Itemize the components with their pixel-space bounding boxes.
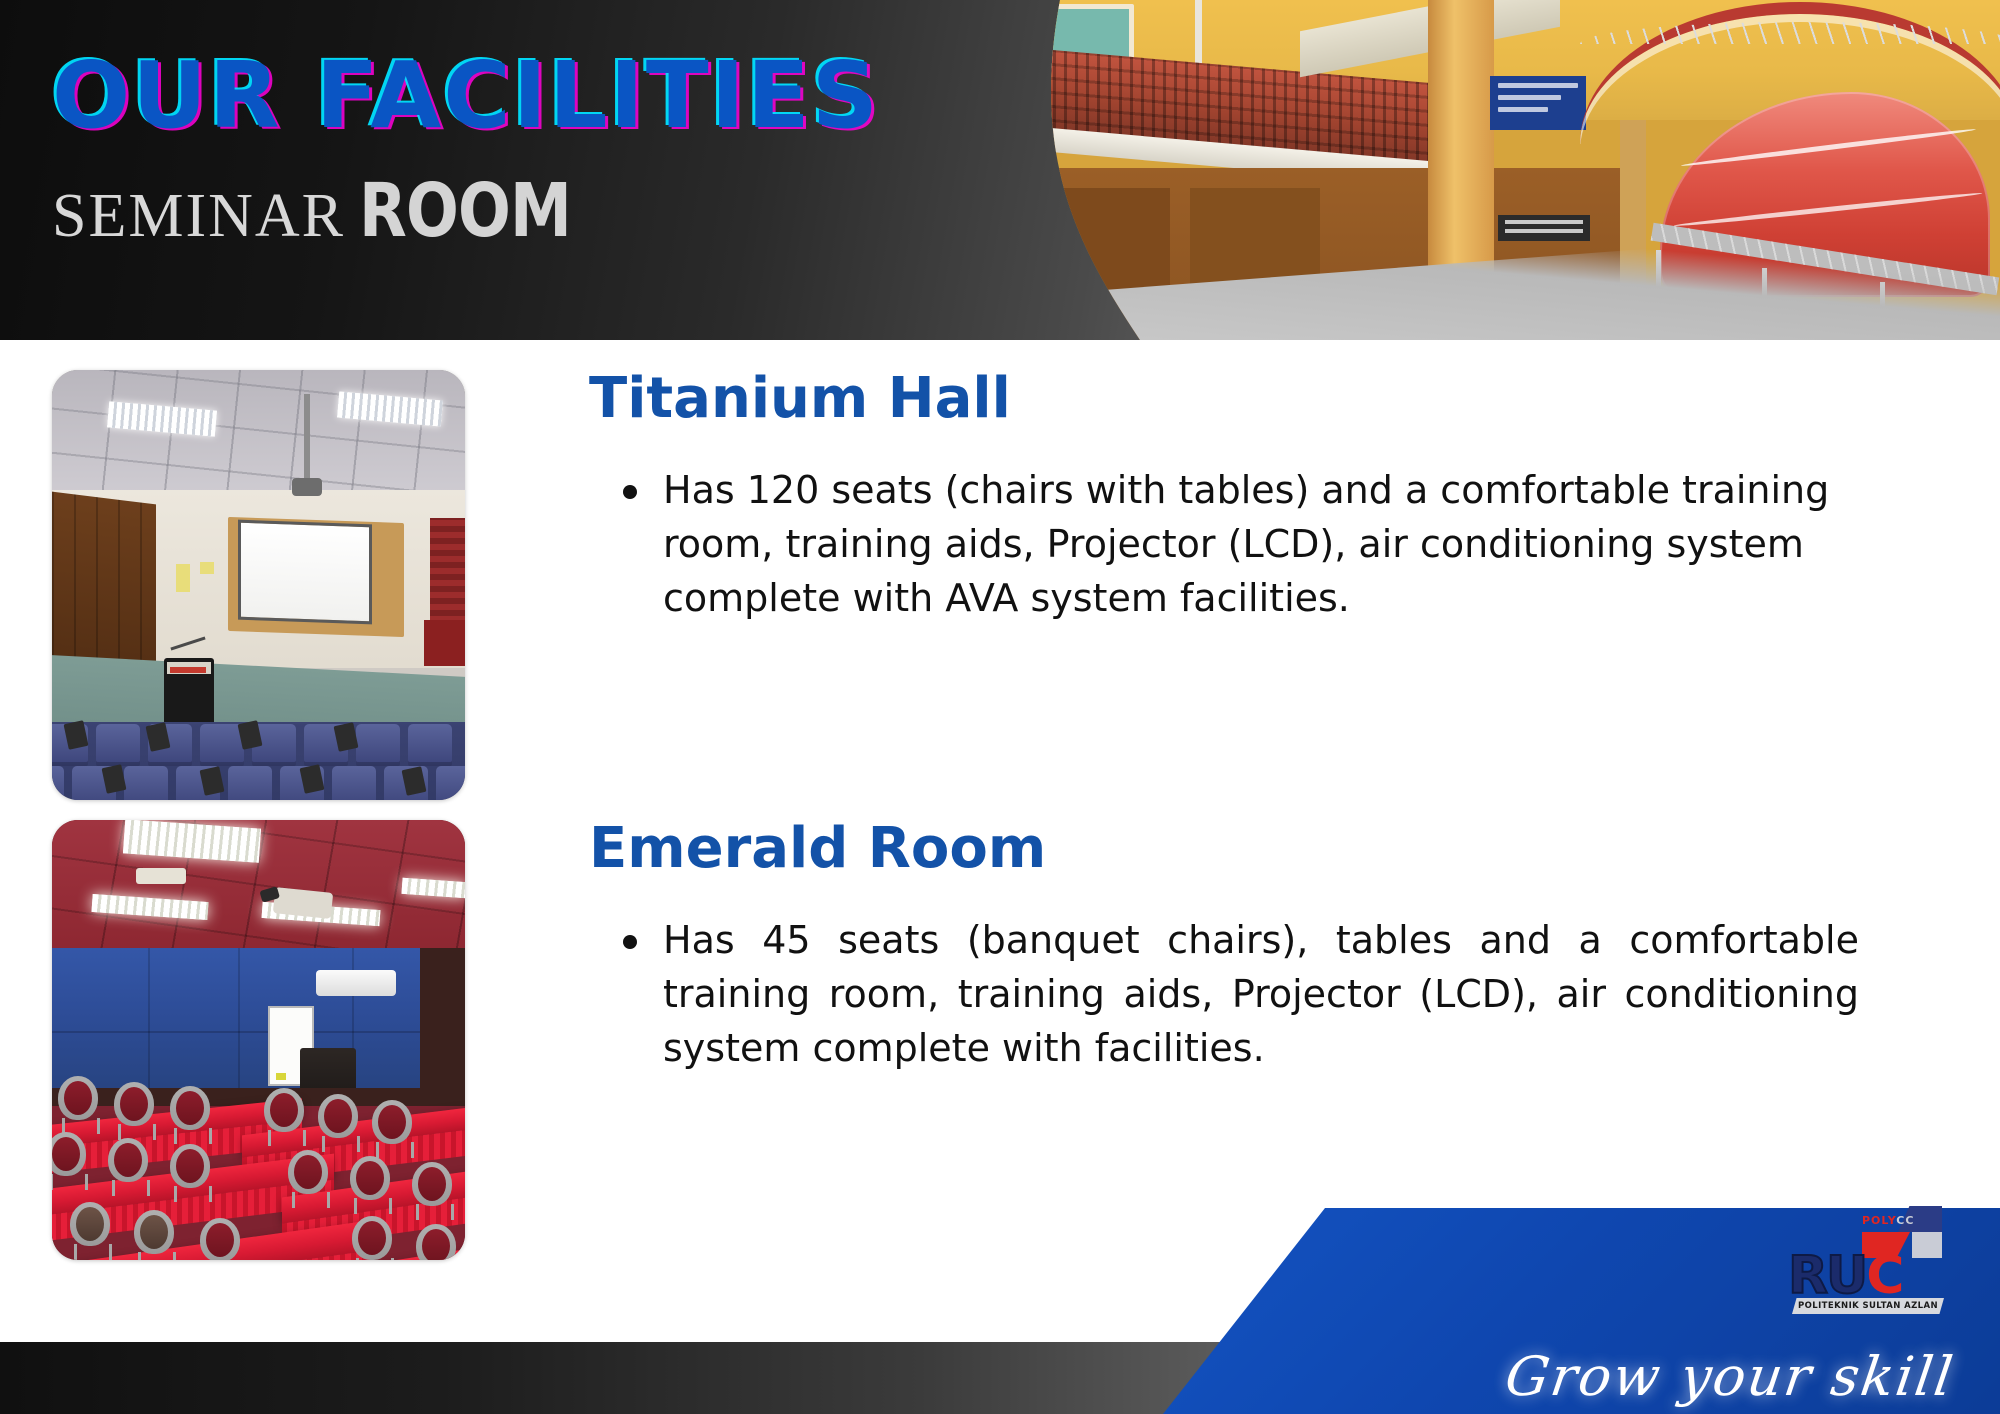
slide-header: OUR FACILITIES SEMINARROOM bbox=[0, 0, 2000, 340]
logo-ruc-letters: RUC bbox=[1788, 1250, 1948, 1302]
titanium-hall-title: Titanium Hall bbox=[589, 370, 1859, 429]
emerald-room-title: Emerald Room bbox=[589, 820, 1859, 879]
facility-block-titanium-hall: Titanium Hall Has 120 seats (chairs with… bbox=[52, 370, 1859, 800]
emerald-room-bullet-row: Has 45 seats (banquet chairs), tables an… bbox=[589, 913, 1859, 1076]
bullet-dot-icon bbox=[623, 935, 637, 949]
logo-poly-text: POLYCC bbox=[1862, 1214, 1914, 1227]
footer-tagline: Grow your skill bbox=[1502, 1345, 1959, 1408]
page-title: OUR FACILITIES bbox=[52, 50, 880, 142]
header-title-group: OUR FACILITIES SEMINARROOM bbox=[52, 50, 880, 254]
logo-institution-name: POLITEKNIK SULTAN AZLAN SHAH bbox=[1792, 1298, 1944, 1314]
emerald-room-description: Has 45 seats (banquet chairs), tables an… bbox=[663, 913, 1859, 1076]
slide-root: OUR FACILITIES SEMINARROOM bbox=[0, 0, 2000, 1414]
facility-block-emerald-room: Emerald Room Has 45 seats (banquet chair… bbox=[52, 820, 1859, 1260]
header-campus-photo bbox=[1020, 0, 2000, 340]
bullet-dot-icon bbox=[623, 485, 637, 499]
ruc-logo: POLYCC RUC POLITEKNIK SULTAN AZLAN SHAH bbox=[1788, 1206, 1948, 1316]
emerald-room-photo bbox=[52, 820, 465, 1260]
titanium-hall-photo bbox=[52, 370, 465, 800]
slide-content: Titanium Hall Has 120 seats (chairs with… bbox=[0, 340, 2000, 1340]
emerald-room-text-column: Emerald Room Has 45 seats (banquet chair… bbox=[589, 820, 1859, 1260]
page-subtitle: SEMINARROOM bbox=[52, 168, 880, 254]
titanium-hall-text-column: Titanium Hall Has 120 seats (chairs with… bbox=[589, 370, 1859, 800]
subtitle-seminar: SEMINAR bbox=[52, 182, 345, 250]
subtitle-room: ROOM bbox=[359, 168, 571, 254]
titanium-hall-bullet-row: Has 120 seats (chairs with tables) and a… bbox=[589, 463, 1859, 626]
titanium-hall-description: Has 120 seats (chairs with tables) and a… bbox=[663, 463, 1859, 626]
